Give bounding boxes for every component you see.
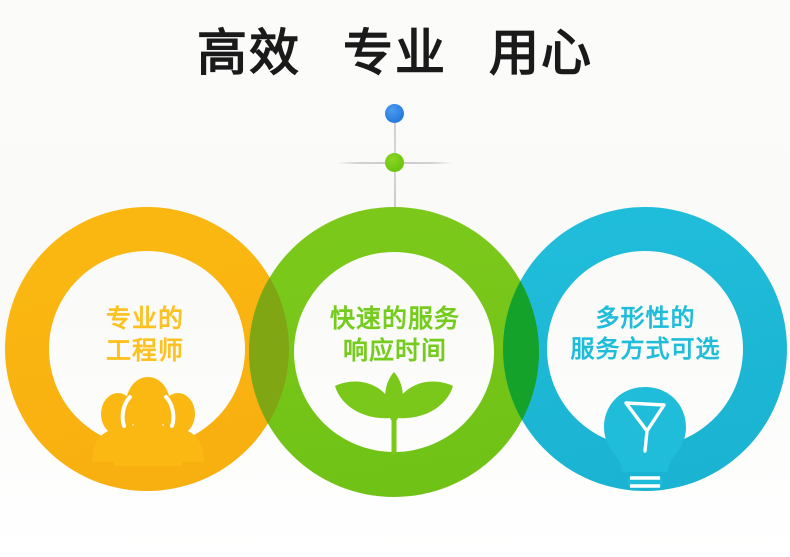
venn-rings [0, 0, 790, 557]
infographic-canvas: 高效专业用心 [0, 0, 790, 557]
overlap-green-cyan [0, 0, 790, 557]
